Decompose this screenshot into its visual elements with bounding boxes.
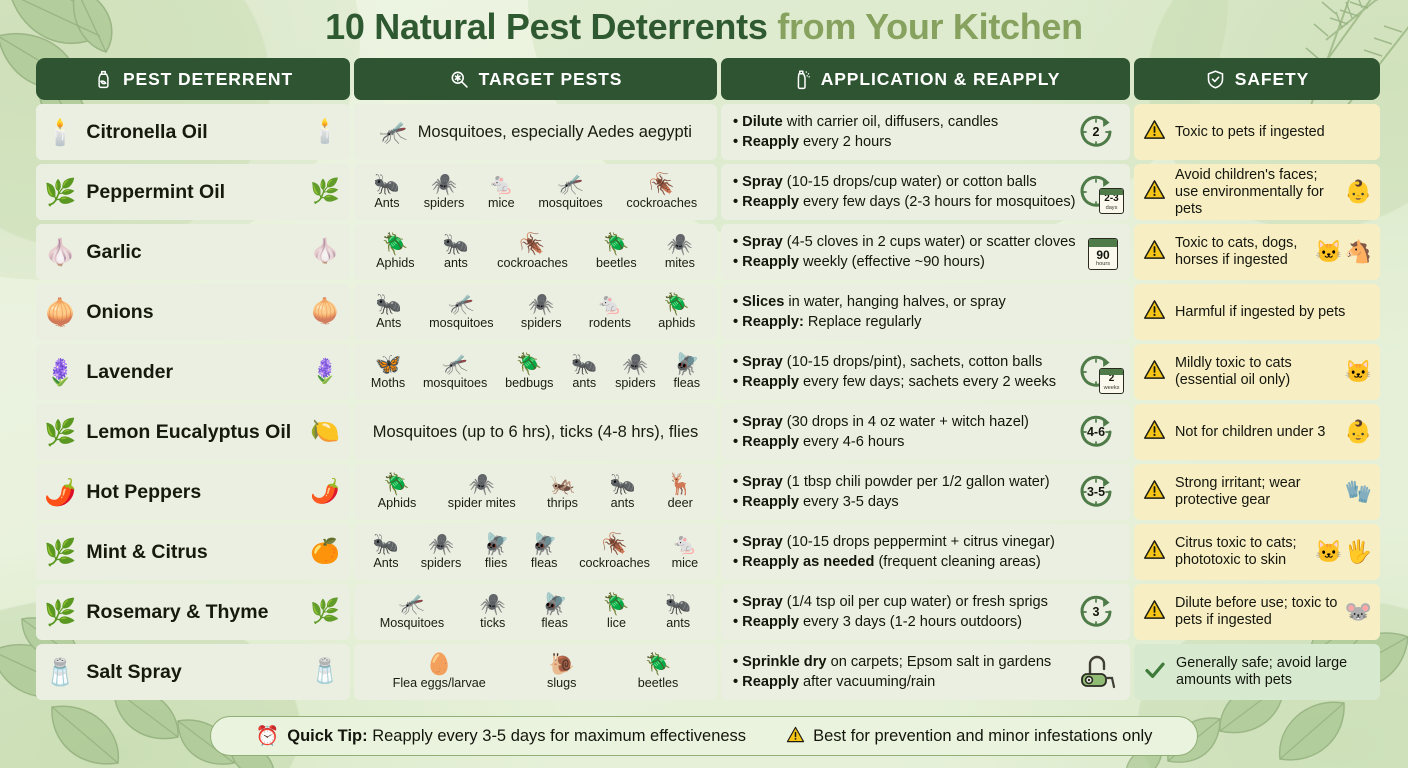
safety-content: Harmful if ingested by pets	[1143, 298, 1345, 326]
pest-item: 🪲aphids	[645, 294, 709, 330]
quick-tip-text: Reapply every 3-5 days for maximum effec…	[368, 727, 746, 745]
deterrent-name: Lavender	[86, 361, 173, 384]
application-bullet: Reapply as needed (frequent cleaning are…	[733, 553, 1055, 571]
application-bullet: Spray (1/4 tsp oil per cup water) or fre…	[733, 593, 1048, 611]
reapply-badge: 4-6	[1076, 410, 1122, 454]
pest-label: mosquitoes	[429, 316, 493, 330]
target-pests-cell[interactable]: 🥚Flea eggs/larvae🐌slugs🪲beetles	[354, 644, 717, 700]
application-bullet-bold: Reapply	[742, 134, 799, 150]
table-row: 🌿Rosemary & Thyme🌿🦟Mosquitoes🕷️ticks🪰fle…	[36, 584, 1372, 640]
application-bullet-rest: every 3-5 days	[799, 494, 899, 510]
pest-icon: 🪳	[519, 234, 545, 256]
pest-list: 🐜Ants🦟mosquitoes🕷️spiders🐁rodents🪲aphids	[362, 294, 709, 330]
table-row: 🧄Garlic🧄🪲Aphids🐜ants🪳cockroaches🪲beetles…	[36, 224, 1372, 280]
column-header-target-pests: TARGET PESTS	[354, 58, 717, 100]
pest-label: Aphids	[376, 256, 415, 270]
target-pests-cell[interactable]: 🦋Moths🦟mosquitoes🪲bedbugs🐜ants🕷️spiders🪰…	[354, 344, 717, 400]
application-bullets: Spray (30 drops in 4 oz water + witch ha…	[733, 413, 1029, 451]
column-header-label: SAFETY	[1235, 69, 1309, 90]
deterrent-cell[interactable]: 🕯️Citronella Oil🕯️	[36, 104, 350, 160]
reapply-interval-value: 3	[1076, 592, 1116, 632]
application-bullet-rest: in water, hanging halves, or spray	[784, 294, 1005, 310]
application-bullet: Reapply every few days; sachets every 2 …	[733, 373, 1056, 391]
safety-extra-icon: 👶	[1345, 181, 1372, 203]
pest-icon: 🕷️	[431, 174, 457, 196]
pest-item: 🦟mosquitoes	[526, 174, 614, 210]
pest-label: Mosquitoes	[380, 616, 444, 630]
application-cell[interactable]: Spray (1 tbsp chili powder per 1/2 gallo…	[721, 464, 1130, 520]
pest-label: Flea eggs/larvae	[393, 676, 486, 690]
alarm-clock-icon: ⏰	[256, 727, 280, 746]
pest-item: 🦌deer	[651, 474, 709, 510]
application-bullet-rest: Replace regularly	[804, 314, 922, 330]
deterrent-icon-secondary: 🌶️	[310, 480, 340, 504]
pest-item: 🪳cockroaches	[615, 174, 709, 210]
reapply-badge: 3	[1076, 590, 1122, 634]
safety-extra-icons: 🐱🖐️	[1315, 541, 1372, 563]
pest-icon: 🐜	[374, 174, 400, 196]
pest-item: 🕷️spiders	[507, 294, 575, 330]
calendar-number: 2-3	[1104, 194, 1118, 204]
safety-text: Mildly toxic to cats (essential oil only…	[1175, 355, 1339, 389]
deterrent-name: Salt Spray	[86, 661, 181, 684]
application-bullet-bold: Reapply	[742, 614, 799, 630]
pest-item: 🪰flies	[472, 534, 520, 570]
reapply-badge	[1076, 290, 1122, 334]
spray-bottle-leaf-icon	[93, 69, 114, 90]
table-row: 🧅Onions🧅🐜Ants🦟mosquitoes🕷️spiders🐁rodent…	[36, 284, 1372, 340]
application-bullets: Spray (10-15 drops/pint), sachets, cotto…	[733, 353, 1056, 391]
table-row: 🌿Peppermint Oil🌿🐜Ants🕷️spiders🐁mice🦟mosq…	[36, 164, 1372, 220]
pest-item: 🐁mice	[476, 174, 526, 210]
pest-item: 🐜Ants	[362, 534, 410, 570]
target-pests-cell[interactable]: 🦟Mosquitoes, especially Aedes aegypti	[354, 104, 717, 160]
warning-triangle-icon	[1143, 118, 1166, 146]
pest-item: 🪲lice	[586, 594, 648, 630]
pest-list: 🦟Mosquitoes🕷️ticks🪰fleas🪲lice🐜ants	[362, 594, 709, 630]
pest-label: ants	[572, 376, 596, 390]
deterrent-icon-secondary: 🍊	[310, 540, 340, 564]
pest-icon: 🐌	[549, 654, 575, 676]
safety-extra-icon: 🐭	[1345, 601, 1372, 623]
pest-item: 🦟mosquitoes	[416, 294, 508, 330]
calendar-icon: 90hours	[1088, 238, 1118, 270]
application-bullet-bold: Spray	[742, 354, 783, 370]
pest-label: ants	[611, 496, 635, 510]
safety-text: Avoid children's faces; use environmenta…	[1175, 167, 1339, 218]
application-cell[interactable]: Dilute with carrier oil, diffusers, cand…	[721, 104, 1130, 160]
safety-extra-icon: 🧤	[1345, 481, 1372, 503]
pest-item: 🕷️spiders	[606, 354, 664, 390]
safety-text: Toxic to pets if ingested	[1175, 124, 1325, 141]
target-pests-cell[interactable]: Mosquitoes (up to 6 hrs), ticks (4-8 hrs…	[354, 404, 717, 460]
pest-label: Aphids	[378, 496, 417, 510]
pest-item: 🐜ants	[429, 234, 483, 270]
reapply-interval-value: 2	[1076, 112, 1116, 152]
target-pests-cell[interactable]: 🐜Ants🕷️spiders🪰flies🪰fleas🪳cockroaches🐁m…	[354, 524, 717, 580]
deterrent-name: Citronella Oil	[86, 121, 207, 144]
application-bullet-rest: (1/4 tsp oil per cup water) or fresh spr…	[783, 594, 1048, 610]
pest-label: rodents	[589, 316, 631, 330]
safety-content: Generally safe; avoid large amounts with…	[1143, 655, 1372, 689]
pest-icon: 🪲	[645, 654, 671, 676]
pest-list: 🐜Ants🕷️spiders🪰flies🪰fleas🪳cockroaches🐁m…	[362, 534, 709, 570]
pest-icon: 🕷️	[480, 594, 506, 616]
deterrent-name: Lemon Eucalyptus Oil	[86, 421, 291, 444]
target-pests-cell[interactable]: 🐜Ants🦟mosquitoes🕷️spiders🐁rodents🪲aphids	[354, 284, 717, 340]
deterrent-icon-secondary: 🧂	[310, 660, 340, 684]
pest-icon: 🐜	[571, 354, 597, 376]
application-cell[interactable]: Spray (10-15 drops/pint), sachets, cotto…	[721, 344, 1130, 400]
table-row: 🌶️Hot Peppers🌶️🪲Aphids🕷️spider mites🦗thr…	[36, 464, 1372, 520]
application-bullets: Spray (1/4 tsp oil per cup water) or fre…	[733, 593, 1048, 631]
application-bullet-rest: (30 drops in 4 oz water + witch hazel)	[783, 414, 1029, 430]
quick-tip-label: Quick Tip:	[287, 727, 367, 745]
pest-label: cockroaches	[497, 256, 568, 270]
pest-label: bedbugs	[505, 376, 553, 390]
application-bullet: Reapply every 4-6 hours	[733, 433, 1029, 451]
application-bullet-rest: (10-15 drops peppermint + citrus vinegar…	[783, 534, 1055, 550]
deterrent-name: Hot Peppers	[86, 481, 201, 504]
target-pests-cell[interactable]: 🐜Ants🕷️spiders🐁mice🦟mosquitoes🪳cockroach…	[354, 164, 717, 220]
application-cell[interactable]: Spray (4-5 cloves in 2 cups water) or sc…	[721, 224, 1130, 280]
page-title-primary: 10 Natural Pest Deterrents	[325, 6, 767, 47]
application-bullet-bold: Spray	[742, 534, 783, 550]
pest-item: 🪲Aphids	[362, 234, 429, 270]
application-bullet: Slices in water, hanging halves, or spra…	[733, 293, 1006, 311]
pest-item: 🕷️spiders	[412, 174, 476, 210]
warning-triangle-icon	[1143, 418, 1166, 446]
pest-icon: 🪰	[483, 534, 509, 556]
table-row: 🌿Lemon Eucalyptus Oil🍋Mosquitoes (up to …	[36, 404, 1372, 460]
pest-label: beetles	[638, 676, 679, 690]
pest-icon: 🦋	[375, 354, 401, 376]
deterrent-icon-secondary: 🪻	[310, 360, 340, 384]
application-cell[interactable]: Spray (10-15 drops/cup water) or cotton …	[721, 164, 1130, 220]
pest-label: Ants	[376, 316, 401, 330]
application-bullet-bold: Reapply:	[742, 314, 804, 330]
safety-extra-icon: 🐱	[1315, 241, 1342, 263]
pest-icon: 🕷️	[667, 234, 693, 256]
application-bullets: Dilute with carrier oil, diffusers, cand…	[733, 113, 998, 151]
safety-extra-icon: 🐱	[1315, 541, 1342, 563]
pest-icon: 🪲	[603, 594, 629, 616]
pest-label: deer	[668, 496, 693, 510]
deterrent-icon: 🌿	[44, 539, 76, 565]
table-header-row: PEST DETERRENT TARGET PESTS APPLICATION …	[36, 58, 1372, 100]
application-bullet: Spray (10-15 drops peppermint + citrus v…	[733, 533, 1055, 551]
application-bullet-rest: (frequent cleaning areas)	[874, 554, 1040, 570]
safety-cell[interactable]: Toxic to pets if ingested	[1134, 104, 1380, 160]
pest-label: aphids	[658, 316, 695, 330]
deterrent-name: Garlic	[86, 241, 141, 264]
safety-content: Toxic to cats, dogs, horses if ingested	[1143, 235, 1309, 269]
application-cell[interactable]: Spray (1/4 tsp oil per cup water) or fre…	[721, 584, 1130, 640]
pest-item: 🐜Ants	[362, 294, 416, 330]
pest-icon: 🪳	[649, 174, 675, 196]
pest-icon: 🕷️	[469, 474, 495, 496]
pest-item: 🐜ants	[594, 474, 652, 510]
pest-item: 🐁rodents	[575, 294, 644, 330]
pest-icon: 🪰	[674, 354, 700, 376]
calendar-icon: 2-3days	[1099, 188, 1124, 214]
column-header-label: TARGET PESTS	[479, 69, 623, 90]
pest-label: fleas	[541, 616, 568, 630]
pest-label: flies	[485, 556, 507, 570]
deterrent-icon: 🧅	[44, 299, 76, 325]
deterrent-cell[interactable]: 🪻Lavender🪻	[36, 344, 350, 400]
pest-summary: Mosquitoes (up to 6 hrs), ticks (4-8 hrs…	[373, 423, 699, 442]
deterrent-name: Mint & Citrus	[86, 541, 207, 564]
safety-extra-icons: 👶	[1345, 421, 1372, 443]
pest-icon: 🪲	[603, 234, 629, 256]
pest-summary-text: Mosquitoes, especially Aedes aegypti	[418, 123, 692, 142]
warning-triangle-icon	[1143, 178, 1166, 206]
safety-content: Mildly toxic to cats (essential oil only…	[1143, 355, 1339, 389]
application-bullet: Spray (4-5 cloves in 2 cups water) or sc…	[733, 233, 1076, 251]
warning-triangle-icon	[1143, 298, 1166, 326]
application-bullet-bold: Spray	[742, 174, 783, 190]
application-bullet: Spray (1 tbsp chili powder per 1/2 gallo…	[733, 473, 1050, 491]
deterrent-name: Rosemary & Thyme	[86, 601, 268, 624]
application-bullet-rest: (10-15 drops/cup water) or cotton balls	[783, 174, 1037, 190]
pest-item: 🐜ants	[647, 594, 709, 630]
deterrent-cell[interactable]: 🌿Peppermint Oil🌿	[36, 164, 350, 220]
application-bullet-bold: Reapply	[742, 434, 799, 450]
pest-label: mosquitoes	[423, 376, 487, 390]
safety-extra-icon: 🐱	[1345, 361, 1372, 383]
application-bullet-bold: Spray	[742, 474, 783, 490]
deterrent-icon: 🌿	[44, 179, 76, 205]
application-bullets: Sprinkle dry on carpets; Epsom salt in g…	[733, 653, 1051, 691]
safety-cell[interactable]: Citrus toxic to cats; phototoxic to skin…	[1134, 524, 1380, 580]
safety-extra-icons: 🐭	[1345, 601, 1372, 623]
application-bullet-bold: Spray	[742, 234, 783, 250]
application-bullet-rest: on carpets; Epsom salt in gardens	[827, 654, 1052, 670]
table-row: 🧂Salt Spray🧂🥚Flea eggs/larvae🐌slugs🪲beet…	[36, 644, 1372, 700]
pest-item: 🪰fleas	[520, 534, 568, 570]
application-bullet-bold: Sprinkle dry	[742, 654, 826, 670]
application-bullet: Reapply weekly (effective ~90 hours)	[733, 253, 1076, 271]
pest-icon: 🥚	[426, 654, 452, 676]
mosquito-icon: 🦟	[379, 119, 408, 146]
calendar-number: 2	[1109, 374, 1115, 384]
target-pests-cell[interactable]: 🪲Aphids🐜ants🪳cockroaches🪲beetles🕷️mites	[354, 224, 717, 280]
safety-cell[interactable]: Dilute before use; toxic to pets if inge…	[1134, 584, 1380, 640]
safety-cell[interactable]: Generally safe; avoid large amounts with…	[1134, 644, 1380, 700]
pest-label: spiders	[421, 556, 462, 570]
deterrent-icon: 🌿	[44, 419, 76, 445]
deterrent-icon-secondary: 🌿	[310, 600, 340, 624]
application-bullet-rest: every 3 days (1-2 hours outdoors)	[799, 614, 1022, 630]
pest-label: spider mites	[448, 496, 516, 510]
pest-label: Ants	[373, 556, 398, 570]
pest-item: 🪲beetles	[607, 654, 709, 690]
deterrent-cell[interactable]: 🌿Mint & Citrus🍊	[36, 524, 350, 580]
pest-icon: 🐜	[443, 234, 469, 256]
deterrent-cell[interactable]: 🧄Garlic🧄	[36, 224, 350, 280]
safety-text: Not for children under 3	[1175, 424, 1325, 441]
target-pests-cell[interactable]: 🦟Mosquitoes🕷️ticks🪰fleas🪲lice🐜ants	[354, 584, 717, 640]
deterrent-icon-secondary: 🧄	[310, 240, 340, 264]
application-cell[interactable]: Slices in water, hanging halves, or spra…	[721, 284, 1130, 340]
pest-label: fleas	[674, 376, 701, 390]
pest-icon: 🐁	[597, 294, 623, 316]
safety-extra-icon: 👶	[1345, 421, 1372, 443]
safety-extra-icons: 🐱🐴	[1315, 241, 1372, 263]
pest-icon: 🐜	[665, 594, 691, 616]
pest-item: 🐌slugs	[516, 654, 607, 690]
safety-text: Dilute before use; toxic to pets if inge…	[1175, 595, 1339, 629]
safety-cell[interactable]: Avoid children's faces; use environmenta…	[1134, 164, 1380, 220]
pest-label: spiders	[521, 316, 562, 330]
deterrent-cell[interactable]: 🧂Salt Spray🧂	[36, 644, 350, 700]
pest-item: 🪰fleas	[524, 594, 586, 630]
safety-text: Harmful if ingested by pets	[1175, 304, 1345, 321]
column-header-label: APPLICATION & REAPPLY	[821, 69, 1061, 90]
pest-icon: 🐜	[373, 534, 399, 556]
application-bullet-rest: every few days; sachets every 2 weeks	[799, 374, 1056, 390]
application-cell[interactable]: Sprinkle dry on carpets; Epsom salt in g…	[721, 644, 1130, 700]
safety-text: Toxic to cats, dogs, horses if ingested	[1175, 235, 1309, 269]
safety-cell[interactable]: Toxic to cats, dogs, horses if ingested🐱…	[1134, 224, 1380, 280]
pest-label: cockroaches	[626, 196, 697, 210]
application-bullets: Slices in water, hanging halves, or spra…	[733, 293, 1006, 331]
pest-icon: 🐜	[609, 474, 635, 496]
safety-extra-icon: 🐴	[1345, 241, 1372, 263]
reapply-badge: 3-5	[1076, 470, 1122, 514]
pest-item: 🪳cockroaches	[483, 234, 582, 270]
pest-icon: 🐜	[376, 294, 402, 316]
application-bullet: Sprinkle dry on carpets; Epsom salt in g…	[733, 653, 1051, 671]
column-header-application: APPLICATION & REAPPLY	[721, 58, 1130, 100]
safety-cell[interactable]: Not for children under 3👶	[1134, 404, 1380, 460]
safety-content: Avoid children's faces; use environmenta…	[1143, 167, 1339, 218]
pest-item: 🕷️spiders	[410, 534, 472, 570]
application-bullets: Spray (4-5 cloves in 2 cups water) or sc…	[733, 233, 1076, 271]
calendar-unit: days	[1106, 205, 1118, 211]
column-header-pest-deterrent: PEST DETERRENT	[36, 58, 350, 100]
pest-item: 🦋Moths	[362, 354, 414, 390]
application-bullet: Spray (30 drops in 4 oz water + witch ha…	[733, 413, 1029, 431]
pest-item: 🦟Mosquitoes	[362, 594, 462, 630]
deterrent-name: Onions	[86, 301, 153, 324]
pest-item: 🪲Aphids	[362, 474, 432, 510]
warning-triangle-icon	[1143, 238, 1166, 266]
deterrent-icon-secondary: 🧅	[310, 300, 340, 324]
pest-label: mice	[672, 556, 699, 570]
pest-icon: 🐁	[672, 534, 698, 556]
pest-item: 🪰fleas	[665, 354, 709, 390]
safety-extra-icons: 👶	[1345, 181, 1372, 203]
pest-label: spiders	[615, 376, 656, 390]
deterrent-cell[interactable]: 🧅Onions🧅	[36, 284, 350, 340]
quick-tip-bar: ⏰ Quick Tip: Reapply every 3-5 days for …	[210, 716, 1198, 756]
safety-text: Strong irritant; wear protective gear	[1175, 475, 1339, 509]
pest-label: mites	[665, 256, 695, 270]
safety-cell[interactable]: Strong irritant; wear protective gear🧤	[1134, 464, 1380, 520]
pest-item: 🐁mice	[661, 534, 709, 570]
deterrent-icon: 🕯️	[44, 119, 76, 145]
vacuum-icon	[1076, 677, 1120, 694]
deterrent-icon: 🧂	[44, 659, 76, 685]
deterrent-icon-secondary: 🍋	[310, 420, 340, 444]
application-bullet: Reapply every 3 days (1-2 hours outdoors…	[733, 613, 1048, 631]
application-bullet-bold: Spray	[742, 594, 783, 610]
application-bullet-bold: Reapply	[742, 254, 799, 270]
pest-label: ticks	[480, 616, 505, 630]
application-bullet: Reapply every 2 hours	[733, 133, 998, 151]
pest-icon: 🪳	[601, 534, 627, 556]
application-bullet-bold: Reapply	[742, 194, 799, 210]
calendar-unit: hours	[1096, 261, 1110, 267]
spray-bottle-icon	[791, 69, 812, 90]
target-pests-cell[interactable]: 🪲Aphids🕷️spider mites🦗thrips🐜ants🦌deer	[354, 464, 717, 520]
application-bullet-rest: (10-15 drops/pint), sachets, cotton ball…	[783, 354, 1043, 370]
deterrents-table: PEST DETERRENT TARGET PESTS APPLICATION …	[36, 58, 1372, 700]
deterrent-cell[interactable]: 🌶️Hot Peppers🌶️	[36, 464, 350, 520]
safety-cell[interactable]: Harmful if ingested by pets	[1134, 284, 1380, 340]
safety-extra-icons: 🐱	[1345, 361, 1372, 383]
table-row: 🌿Mint & Citrus🍊🐜Ants🕷️spiders🪰flies🪰flea…	[36, 524, 1372, 580]
pest-label: cockroaches	[579, 556, 650, 570]
safety-content: Not for children under 3	[1143, 418, 1325, 446]
pest-item: 🪲bedbugs	[496, 354, 562, 390]
deterrent-icon: 🧄	[44, 239, 76, 265]
pest-icon: 🕷️	[528, 294, 554, 316]
prevention-note: Best for prevention and minor infestatio…	[786, 725, 1152, 748]
pest-label: fleas	[531, 556, 558, 570]
pest-icon: 🦟	[442, 354, 468, 376]
magnifier-bug-icon	[449, 69, 470, 90]
pest-icon: 🦟	[448, 294, 474, 316]
pest-icon: 🦌	[667, 474, 693, 496]
deterrent-icon: 🪻	[44, 359, 76, 385]
calendar-icon: 2weeks	[1099, 368, 1124, 394]
application-bullet-bold: Reapply as needed	[742, 554, 874, 570]
application-bullet-bold: Spray	[742, 414, 783, 430]
application-bullet-rest: (4-5 cloves in 2 cups water) or scatter …	[783, 234, 1076, 250]
pest-list: 🥚Flea eggs/larvae🐌slugs🪲beetles	[362, 654, 709, 690]
pest-icon: 🐁	[488, 174, 514, 196]
safety-content: Toxic to pets if ingested	[1143, 118, 1325, 146]
pest-item: 🦗thrips	[531, 474, 593, 510]
pest-item: 🪲beetles	[582, 234, 651, 270]
pest-list: 🪲Aphids🕷️spider mites🦗thrips🐜ants🦌deer	[362, 474, 709, 510]
reapply-badge	[1076, 530, 1122, 574]
page-title: 10 Natural Pest Deterrents from Your Kit…	[0, 6, 1408, 48]
pest-label: Moths	[371, 376, 405, 390]
pest-icon: 🦟	[557, 174, 583, 196]
application-cell[interactable]: Spray (10-15 drops peppermint + citrus v…	[721, 524, 1130, 580]
pest-list: 🐜Ants🕷️spiders🐁mice🦟mosquitoes🪳cockroach…	[362, 174, 709, 210]
pest-label: ants	[666, 616, 690, 630]
application-bullets: Spray (10-15 drops peppermint + citrus v…	[733, 533, 1055, 571]
application-bullet-rest: (1 tbsp chili powder per 1/2 gallon wate…	[783, 474, 1050, 490]
pest-summary-text: Mosquitoes (up to 6 hrs), ticks (4-8 hrs…	[373, 423, 699, 442]
application-cell[interactable]: Spray (30 drops in 4 oz water + witch ha…	[721, 404, 1130, 460]
pest-icon: 🪰	[531, 534, 557, 556]
deterrent-icon: 🌿	[44, 599, 76, 625]
safety-text: Generally safe; avoid large amounts with…	[1176, 655, 1372, 689]
safety-cell[interactable]: Mildly toxic to cats (essential oil only…	[1134, 344, 1380, 400]
warning-triangle-icon	[786, 725, 805, 748]
deterrent-cell[interactable]: 🌿Lemon Eucalyptus Oil🍋	[36, 404, 350, 460]
deterrent-cell[interactable]: 🌿Rosemary & Thyme🌿	[36, 584, 350, 640]
application-bullet: Spray (10-15 drops/cup water) or cotton …	[733, 173, 1076, 191]
application-bullet: Reapply after vacuuming/rain	[733, 673, 1051, 691]
pest-label: spiders	[424, 196, 465, 210]
